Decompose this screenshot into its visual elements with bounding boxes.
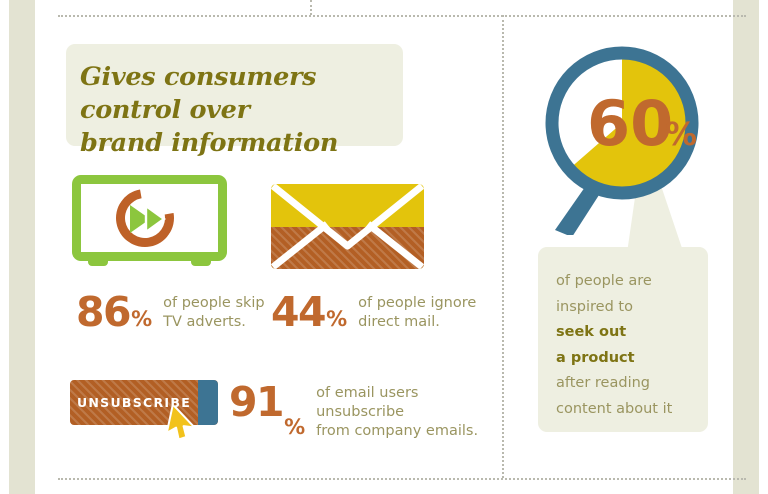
heading-line-2: brand information bbox=[80, 127, 383, 160]
stat-tv-adverts-desc-line-1: of people skip bbox=[163, 295, 265, 311]
play-chevron-icon bbox=[128, 203, 170, 235]
callout-line-2: inspired to bbox=[556, 295, 692, 321]
stat-email-unsubscribe-desc-line-1: of email users unsubscribe bbox=[316, 385, 418, 420]
callout-line-5: after reading bbox=[556, 371, 692, 397]
callout-line-3: seek out bbox=[556, 320, 692, 346]
tv-play-icon bbox=[72, 175, 227, 267]
heading-card: Gives consumers control over brand infor… bbox=[66, 44, 403, 146]
stat-direct-mail: 44 % of people ignore direct mail. bbox=[271, 292, 476, 333]
stat-tv-adverts-desc-line-2: TV adverts. bbox=[163, 314, 246, 330]
mouse-cursor-icon bbox=[166, 406, 200, 442]
callout-line-6: content about it bbox=[556, 397, 692, 423]
stat-direct-mail-desc-line-1: of people ignore bbox=[358, 295, 476, 311]
stat-tv-adverts-value: 86 bbox=[76, 292, 130, 333]
tv-foot-right bbox=[191, 257, 211, 266]
callout-line-1: of people are bbox=[556, 269, 692, 295]
envelope-icon bbox=[271, 184, 424, 269]
envelope-flap-lines bbox=[271, 184, 424, 269]
stat-email-unsubscribe-unit: % bbox=[284, 415, 305, 439]
stat-direct-mail-desc-line-2: direct mail. bbox=[358, 314, 440, 330]
stat-tv-adverts-description: of people skip TV adverts. bbox=[163, 294, 265, 332]
callout-line-4: a product bbox=[556, 346, 692, 372]
magnifier-value: 60 bbox=[587, 87, 673, 160]
callout-card: of people are inspired to seek out a pro… bbox=[538, 247, 708, 432]
stat-direct-mail-unit: % bbox=[326, 307, 347, 331]
unsubscribe-illustration: UNSUBSCRIBE bbox=[70, 380, 218, 425]
unsubscribe-button-edge bbox=[198, 380, 218, 425]
magnifying-glass-icon: 60 % bbox=[527, 45, 717, 235]
stat-email-unsubscribe-desc-line-2: from company emails. bbox=[316, 423, 478, 439]
stat-tv-adverts-unit: % bbox=[131, 307, 152, 331]
stat-tv-adverts: 86 % of people skip TV adverts. bbox=[76, 292, 265, 333]
heading-line-1: Gives consumers control over bbox=[80, 61, 383, 127]
magnifier-unit: % bbox=[665, 115, 697, 153]
stat-direct-mail-description: of people ignore direct mail. bbox=[358, 294, 476, 332]
stat-email-unsubscribe-value: 91 bbox=[229, 382, 283, 423]
stat-email-unsubscribe: 91 % of email users unsubscribe from com… bbox=[229, 382, 502, 441]
left-column: Gives consumers control over brand infor… bbox=[0, 0, 502, 494]
right-column: 60 % of people are inspired to seek out … bbox=[502, 0, 768, 494]
tv-foot-left bbox=[88, 257, 108, 266]
stat-direct-mail-value: 44 bbox=[271, 292, 325, 333]
stat-email-unsubscribe-description: of email users unsubscribe from company … bbox=[316, 384, 502, 441]
